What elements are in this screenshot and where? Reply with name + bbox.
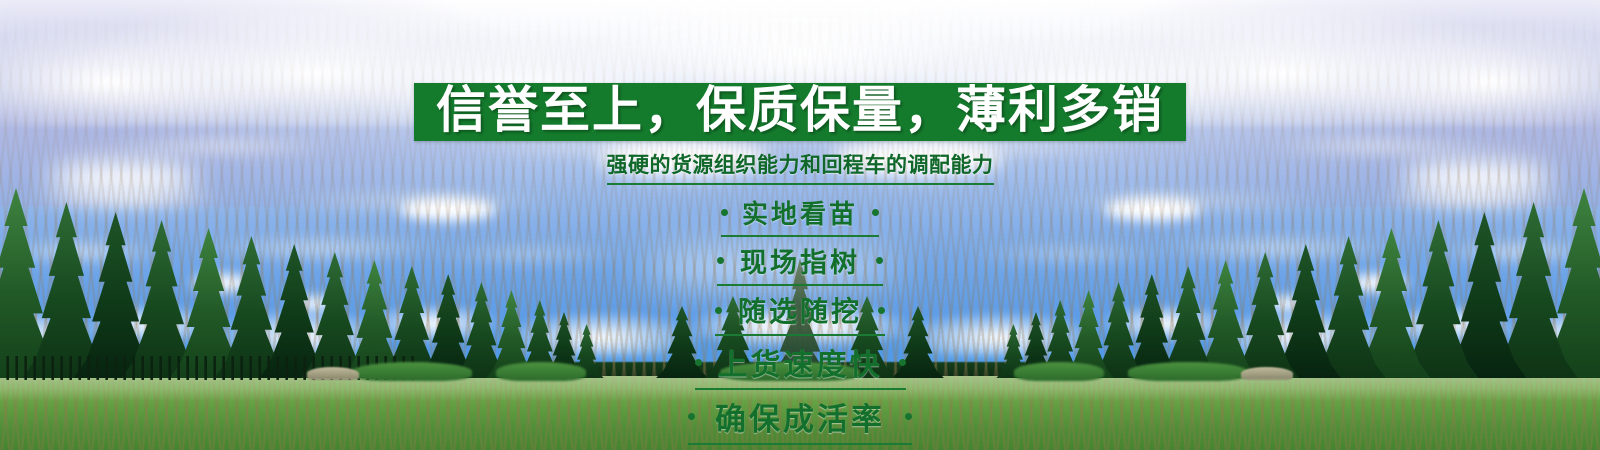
bullet-dot-icon	[715, 307, 722, 314]
headline-text: 信誉至上，保质保量，薄利多销	[436, 85, 1164, 135]
feature-label: 实地看苗	[742, 194, 858, 231]
feature-item: 随选随挖	[715, 290, 885, 336]
feature-label: 现场指树	[740, 241, 860, 280]
banner-content: 信誉至上，保质保量，薄利多销 强硬的货源组织能力和回程车的调配能力 实地看苗 现…	[0, 0, 1600, 450]
bullet-dot-icon	[905, 413, 912, 420]
headline-band: 信誉至上，保质保量，薄利多销	[414, 83, 1186, 141]
feature-label: 确保成活率	[715, 394, 885, 439]
bullet-dot-icon	[717, 257, 724, 264]
bullet-dot-icon	[899, 359, 906, 366]
feature-item: 实地看苗	[721, 194, 879, 237]
bullet-dot-icon	[876, 257, 883, 264]
subtitle-text: 强硬的货源组织能力和回程车的调配能力	[607, 149, 994, 185]
feature-item: 确保成活率	[688, 394, 912, 445]
bullet-dot-icon	[878, 307, 885, 314]
feature-item: 上货速度快	[695, 340, 906, 390]
bullet-dot-icon	[872, 209, 879, 216]
hero-banner: 信誉至上，保质保量，薄利多销 强硬的货源组织能力和回程车的调配能力 实地看苗 现…	[0, 0, 1600, 450]
bullet-dot-icon	[721, 209, 728, 216]
bullet-dot-icon	[688, 413, 695, 420]
feature-label: 随选随挖	[738, 290, 862, 330]
bullet-dot-icon	[695, 359, 702, 366]
feature-list: 实地看苗 现场指树 随选随挖 上货速度快 确保成活率	[688, 194, 912, 449]
feature-item: 现场指树	[717, 241, 883, 286]
feature-label: 上货速度快	[718, 340, 883, 384]
